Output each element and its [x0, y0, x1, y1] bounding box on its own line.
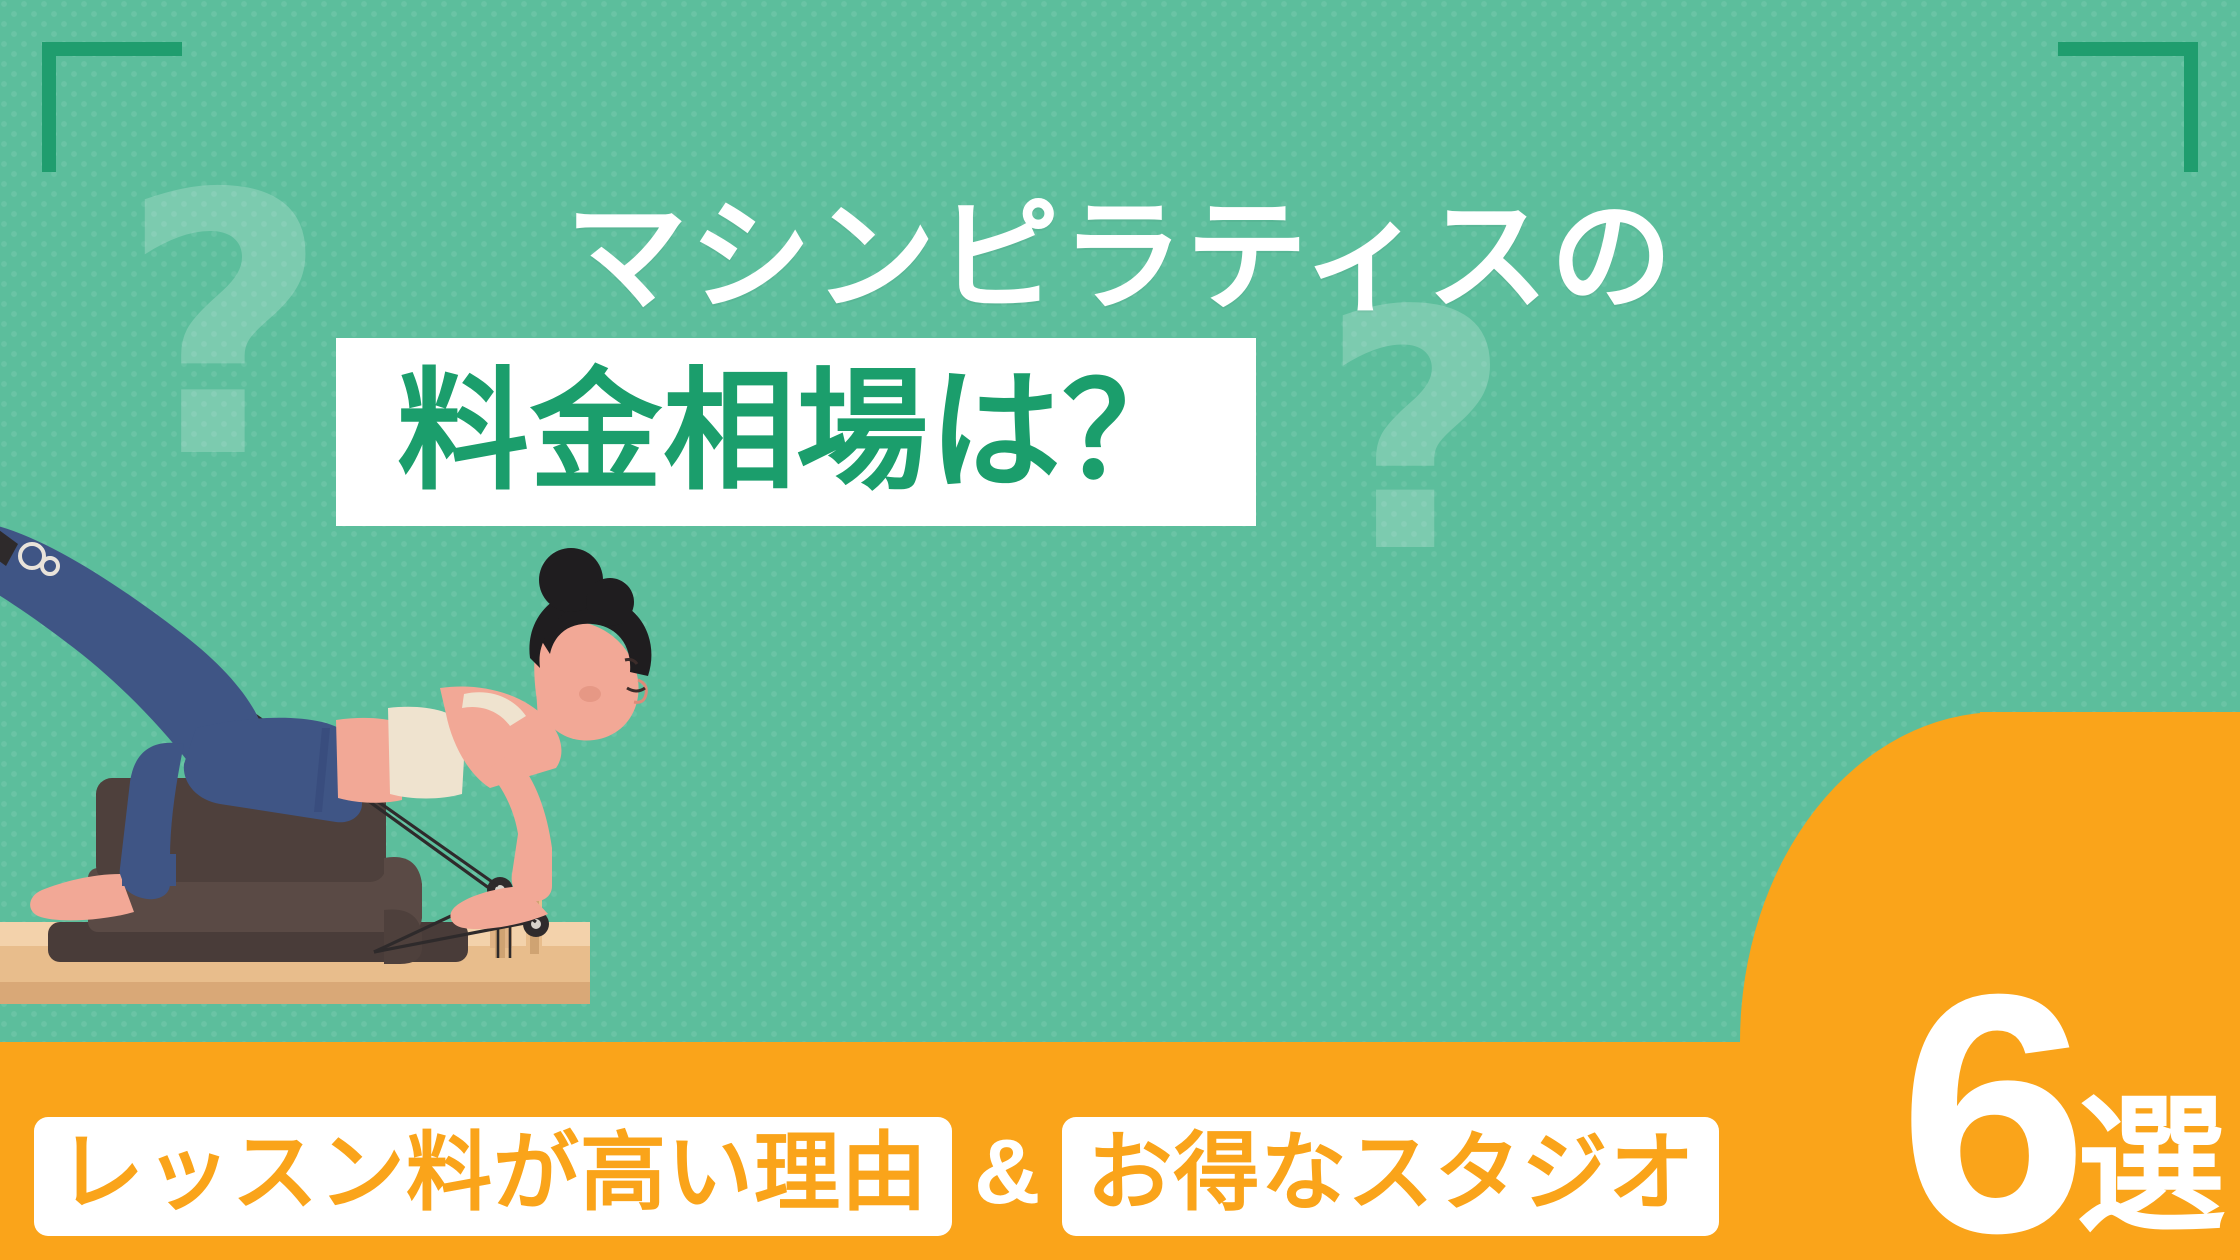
headline-top: マシンピラティスの [0, 196, 2240, 318]
count-badge: 6 選 [1899, 975, 2226, 1254]
pill-lesson-price-reason: レッスン料が高い理由 [34, 1117, 952, 1236]
bracket-vertical-bar [2184, 42, 2198, 172]
bracket-horizontal-bar [42, 42, 182, 56]
pill-row: レッスン料が高い理由 & お得なスタジオ [34, 1117, 1719, 1236]
count-number: 6 [1899, 975, 2082, 1254]
pill-separator-ampersand: & [970, 1126, 1044, 1228]
headline-boxed-text: 料金相場は？ [397, 366, 1195, 498]
banner-root: ? ? マシンピラティスの 料金相場は？ 6 選 レッスン料が高い理由 & お得… [0, 0, 2240, 1260]
pill-good-value-studio: お得なスタジオ [1062, 1117, 1719, 1236]
bracket-horizontal-bar [2058, 42, 2198, 56]
count-suffix: 選 [2076, 1105, 2226, 1254]
bracket-vertical-bar [42, 42, 56, 172]
corner-bracket-top-right [2058, 42, 2198, 172]
pilates-illustration [0, 482, 610, 1042]
